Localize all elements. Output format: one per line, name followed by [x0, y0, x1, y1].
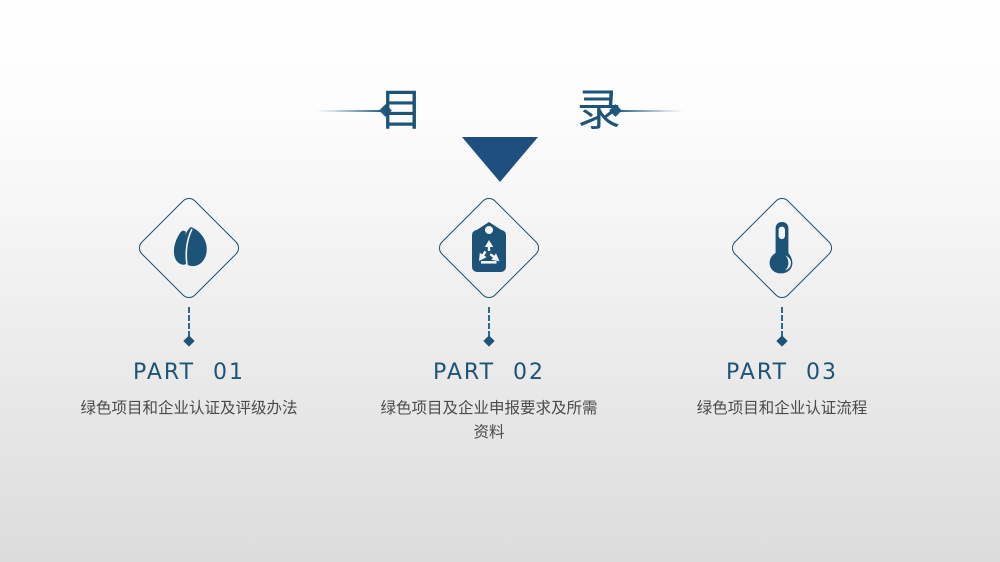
parts-row: PART 01 绿色项目和企业认证及评级办法 [0, 196, 1000, 456]
part-icon-frame-02 [437, 196, 541, 300]
slide-canvas: 目 录 PART 01 绿色项目和企业认证及 [0, 0, 1000, 562]
leaf-icon [137, 196, 241, 300]
part-label-01: PART 01 [59, 360, 319, 386]
connector-diamond-icon [483, 335, 494, 346]
connector-dashed-line [488, 307, 490, 337]
part-connector-02 [488, 307, 490, 345]
title-banner-trapezoid [418, 57, 571, 87]
part-item-03[interactable]: PART 03 绿色项目和企业认证流程 [652, 196, 912, 420]
connector-dashed-line [781, 307, 783, 337]
connector-dashed-line [188, 307, 190, 337]
page-title: 目 录 [0, 86, 1000, 136]
part-item-01[interactable]: PART 01 绿色项目和企业认证及评级办法 [59, 196, 319, 420]
connector-diamond-icon [776, 335, 787, 346]
part-description-02: 绿色项目及企业申报要求及所需资料 [359, 396, 619, 444]
part-icon-frame-01 [137, 196, 241, 300]
part-connector-01 [188, 307, 190, 345]
part-connector-03 [781, 307, 783, 345]
part-label-02: PART 02 [359, 360, 619, 386]
recycle-tag-icon [437, 196, 541, 300]
connector-diamond-icon [183, 335, 194, 346]
part-description-03: 绿色项目和企业认证流程 [652, 396, 912, 420]
thermometer-icon [730, 196, 834, 300]
part-description-01: 绿色项目和企业认证及评级办法 [59, 396, 319, 420]
part-icon-frame-03 [730, 196, 834, 300]
title-block: 目 录 [0, 0, 1000, 200]
title-pointer-triangle [462, 137, 538, 182]
part-item-02[interactable]: PART 02 绿色项目及企业申报要求及所需资料 [359, 196, 619, 444]
part-label-03: PART 03 [652, 360, 912, 386]
